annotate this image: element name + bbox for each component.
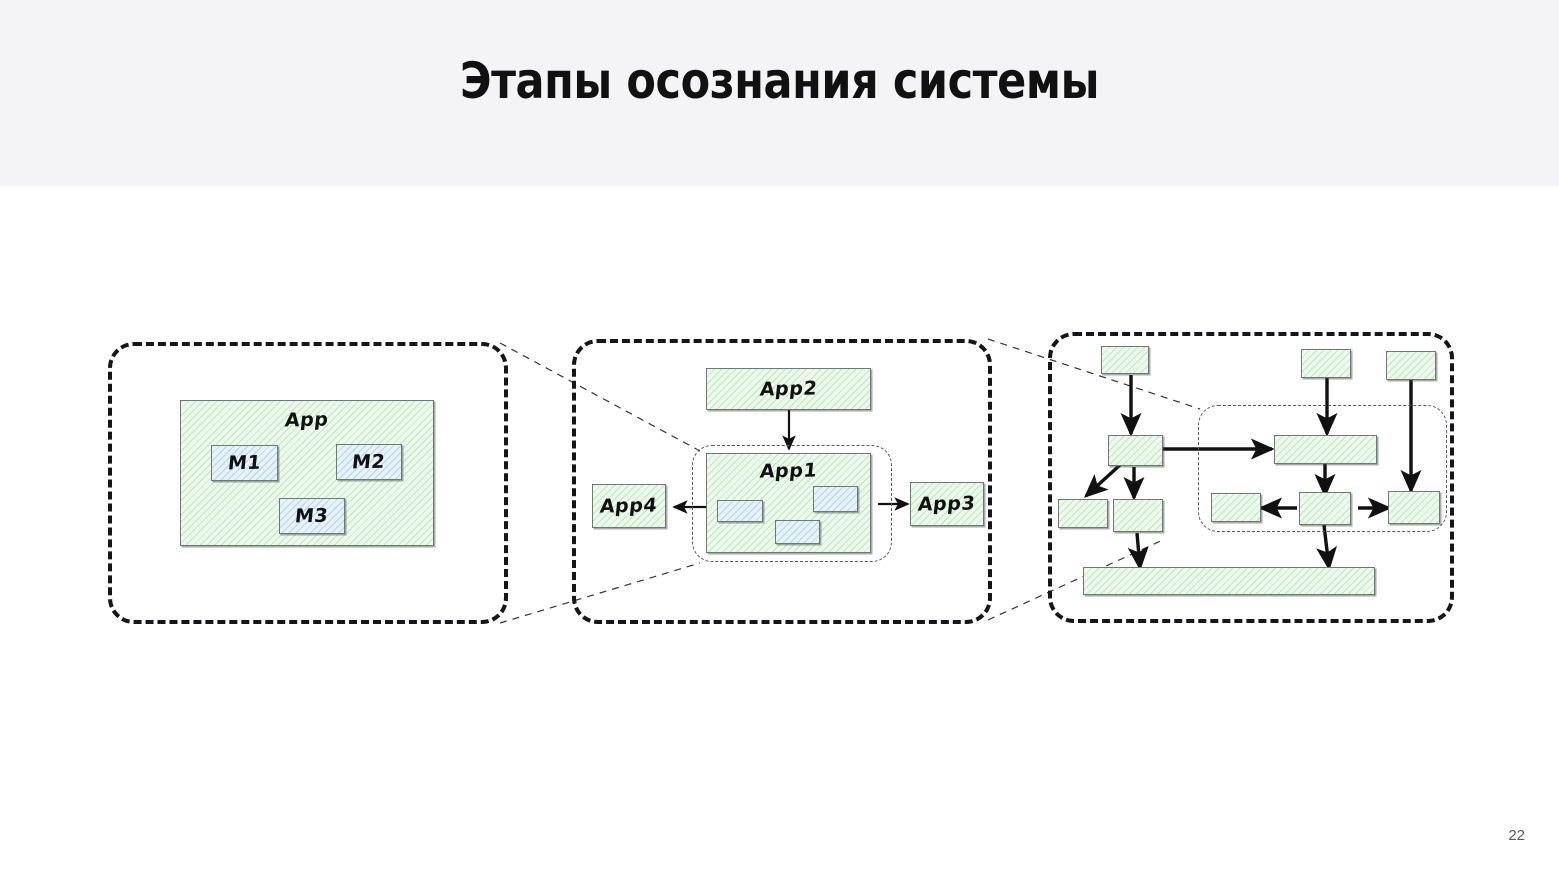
service-box-9[interactable] xyxy=(1388,491,1440,524)
app2-box-label: App2 xyxy=(759,377,819,400)
app1-inner-box-1[interactable] xyxy=(717,500,763,522)
page-title-text: Этапы осознания системы xyxy=(460,52,1099,110)
service-box-10[interactable] xyxy=(1386,351,1436,380)
service-box-8[interactable] xyxy=(1299,492,1351,525)
module-box-m1[interactable]: M1 xyxy=(211,445,278,481)
service-box-4[interactable] xyxy=(1113,499,1163,532)
service-box-7[interactable] xyxy=(1211,493,1261,522)
service-box-5[interactable] xyxy=(1301,349,1351,378)
page-title: Этапы осознания системы xyxy=(109,52,1450,110)
app1-inner-box-2[interactable] xyxy=(813,486,858,512)
module-box-m1-label: M1 xyxy=(227,452,262,475)
service-box-2[interactable] xyxy=(1108,435,1163,466)
app-box-label: App xyxy=(284,409,330,432)
app3-box[interactable]: App3 xyxy=(910,482,984,526)
module-box-m2[interactable]: M2 xyxy=(336,444,402,480)
page-number: 22 xyxy=(1508,827,1525,844)
module-box-m3[interactable]: M3 xyxy=(279,498,345,534)
app4-box-label: App4 xyxy=(599,494,659,517)
service-box-3[interactable] xyxy=(1058,499,1108,528)
app3-box-label: App3 xyxy=(917,492,977,515)
module-box-m3-label: M3 xyxy=(294,505,329,528)
diagram-canvas: App M1 M2 M3 App2 App1 App4 App3 xyxy=(0,186,1559,878)
shared-platform-bar[interactable] xyxy=(1083,567,1375,595)
app1-inner-box-3[interactable] xyxy=(775,520,820,544)
service-box-1[interactable] xyxy=(1101,346,1149,374)
service-box-6[interactable] xyxy=(1274,435,1377,464)
module-box-m2-label: M2 xyxy=(351,451,386,474)
app1-box-label: App1 xyxy=(759,459,819,482)
app4-box[interactable]: App4 xyxy=(592,484,666,528)
app2-box[interactable]: App2 xyxy=(706,368,871,410)
